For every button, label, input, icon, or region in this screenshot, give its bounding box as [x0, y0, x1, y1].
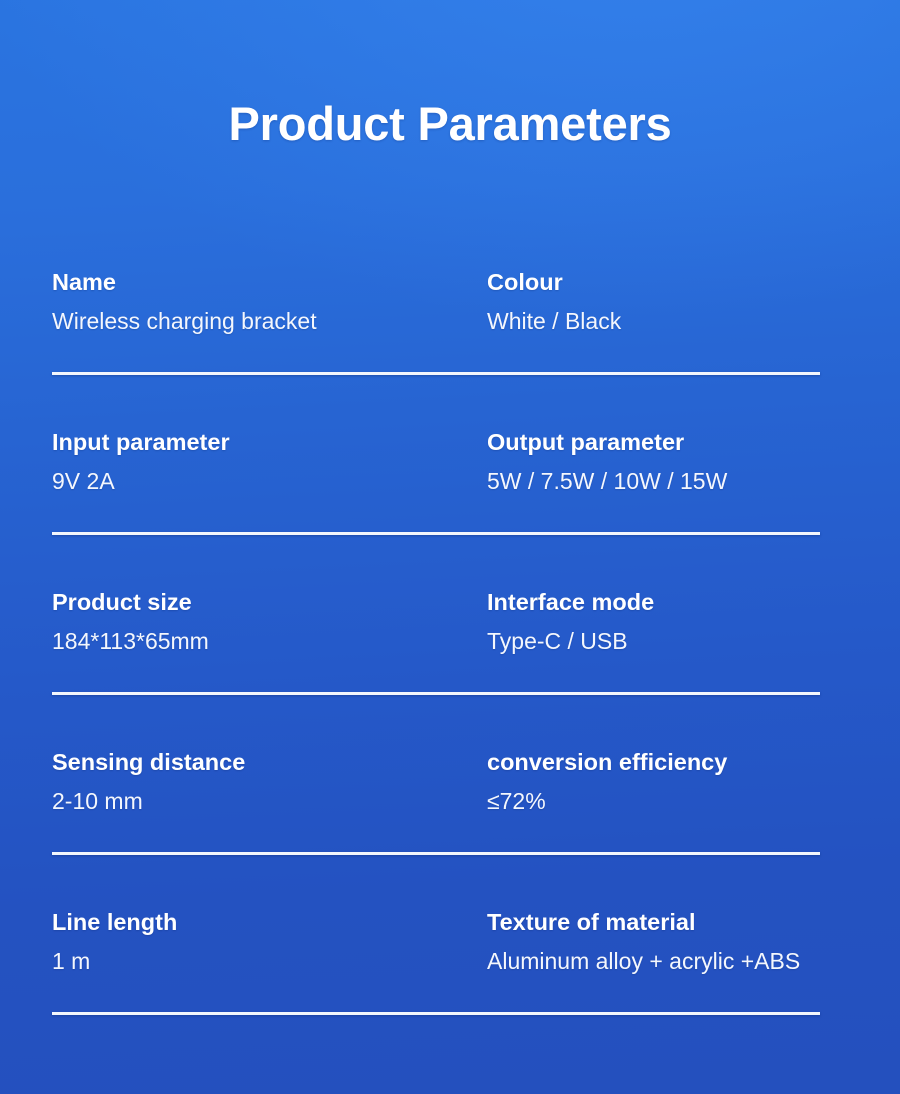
spec-cell-input-parameter: Input parameter 9V 2A — [52, 428, 487, 496]
spec-label: Name — [52, 268, 487, 297]
spec-cell-interface-mode: Interface mode Type-C / USB — [487, 588, 820, 656]
spec-cell-texture-of-material: Texture of material Aluminum alloy + acr… — [487, 908, 820, 976]
spec-label: Input parameter — [52, 428, 487, 457]
spec-row-columns: Name Wireless charging bracket Colour Wh… — [52, 268, 820, 336]
spec-label: Line length — [52, 908, 487, 937]
spec-cell-colour: Colour White / Black — [487, 268, 820, 336]
spec-value: ≤72% — [487, 787, 820, 816]
spec-label: Texture of material — [487, 908, 820, 937]
spec-value: Aluminum alloy + acrylic +ABS — [487, 947, 820, 976]
spec-row-columns: Product size 184*113*65mm Interface mode… — [52, 588, 820, 656]
row-divider — [52, 852, 820, 855]
spec-row-columns: Line length 1 m Texture of material Alum… — [52, 908, 820, 976]
spec-cell-conversion-efficiency: conversion efficiency ≤72% — [487, 748, 820, 816]
page-title: Product Parameters — [228, 98, 671, 150]
spec-value: White / Black — [487, 307, 820, 336]
row-divider — [52, 532, 820, 535]
product-parameters-page: Product Parameters Name Wireless chargin… — [0, 0, 900, 1094]
row-divider — [52, 692, 820, 695]
spec-value: Wireless charging bracket — [52, 307, 487, 336]
table-row: Sensing distance 2-10 mm conversion effi… — [52, 748, 820, 908]
spec-cell-line-length: Line length 1 m — [52, 908, 487, 976]
spec-label: Output parameter — [487, 428, 820, 457]
spec-cell-name: Name Wireless charging bracket — [52, 268, 487, 336]
table-row: Product size 184*113*65mm Interface mode… — [52, 588, 820, 748]
table-row: Line length 1 m Texture of material Alum… — [52, 908, 820, 1068]
row-divider — [52, 372, 820, 375]
spec-cell-output-parameter: Output parameter 5W / 7.5W / 10W / 15W — [487, 428, 820, 496]
spec-value: 9V 2A — [52, 467, 487, 496]
spec-row-columns: Sensing distance 2-10 mm conversion effi… — [52, 748, 820, 816]
spec-label: Colour — [487, 268, 820, 297]
page-title-container: Product Parameters — [0, 98, 900, 150]
specification-table: Name Wireless charging bracket Colour Wh… — [52, 268, 820, 1068]
row-divider — [52, 1012, 820, 1015]
spec-label: conversion efficiency — [487, 748, 820, 777]
spec-label: Interface mode — [487, 588, 820, 617]
spec-value: 5W / 7.5W / 10W / 15W — [487, 467, 820, 496]
spec-cell-sensing-distance: Sensing distance 2-10 mm — [52, 748, 487, 816]
spec-value: 1 m — [52, 947, 487, 976]
table-row: Name Wireless charging bracket Colour Wh… — [52, 268, 820, 428]
spec-cell-product-size: Product size 184*113*65mm — [52, 588, 487, 656]
spec-value: 184*113*65mm — [52, 627, 487, 656]
spec-label: Sensing distance — [52, 748, 487, 777]
spec-value: Type-C / USB — [487, 627, 820, 656]
spec-value: 2-10 mm — [52, 787, 487, 816]
spec-row-columns: Input parameter 9V 2A Output parameter 5… — [52, 428, 820, 496]
table-row: Input parameter 9V 2A Output parameter 5… — [52, 428, 820, 588]
spec-label: Product size — [52, 588, 487, 617]
